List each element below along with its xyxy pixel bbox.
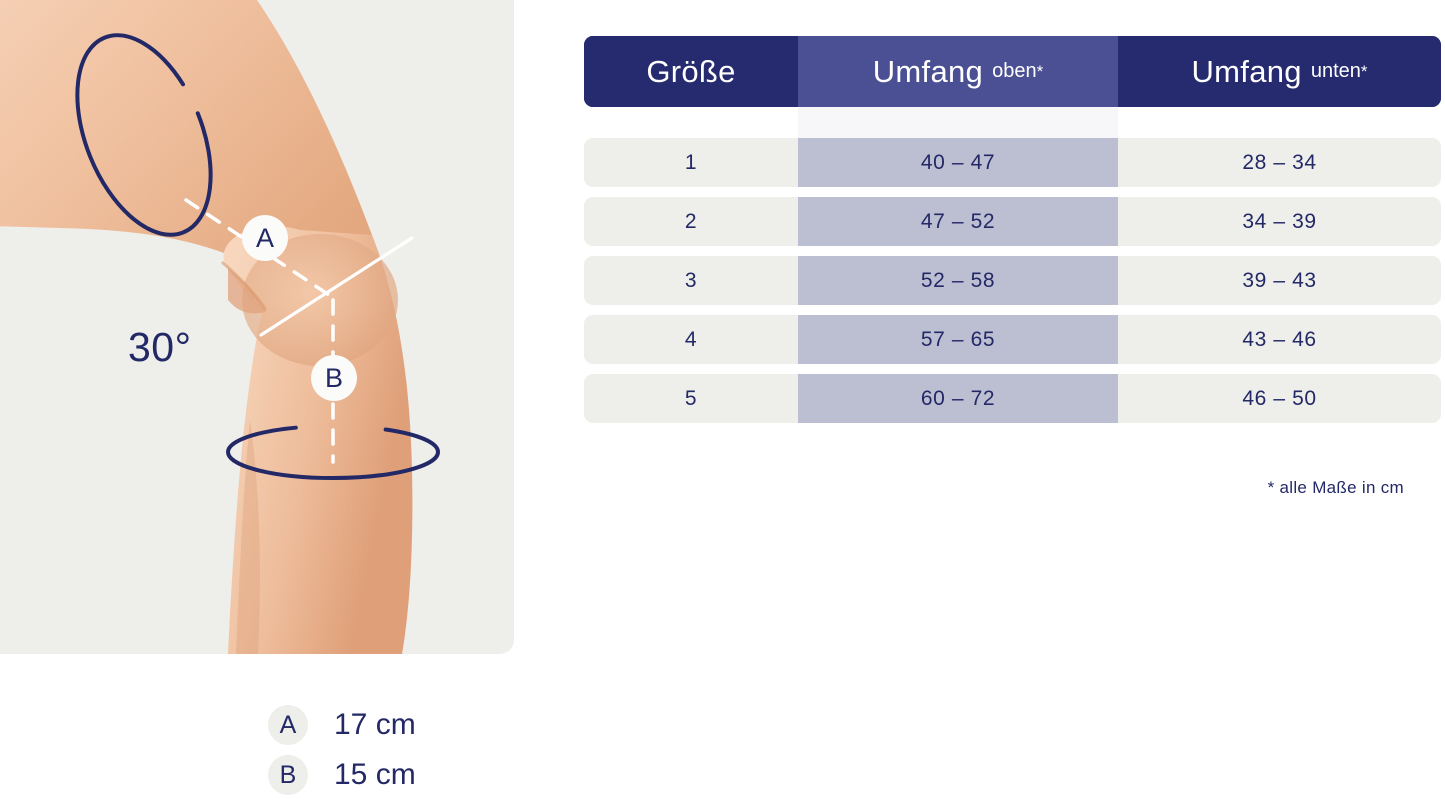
legend-item-a: A 17 cm: [268, 700, 416, 750]
cell-lower-circumference: 43 – 46: [1118, 315, 1441, 364]
legend-item-b: B 15 cm: [268, 750, 416, 800]
cell-size: 2: [584, 197, 798, 246]
size-chart-page: 30° A B A 17 cm B 15 cm Größe Umfang obe…: [0, 0, 1445, 812]
legend-marker-b: B: [268, 755, 308, 795]
header-cell-lower: Umfang unten *: [1118, 36, 1441, 107]
header-upper-label: Umfang: [873, 54, 983, 90]
table-row: 560 – 7246 – 50: [584, 374, 1441, 423]
marker-b: B: [311, 355, 357, 401]
table-row: 352 – 5839 – 43: [584, 256, 1441, 305]
table-header-row: Größe Umfang oben * Umfang unten *: [584, 36, 1441, 107]
header-cell-size: Größe: [584, 36, 798, 107]
header-size-label: Größe: [646, 54, 735, 90]
header-lower-sublabel: unten: [1311, 60, 1361, 83]
knee-illustration-panel: 30° A B: [0, 0, 514, 654]
cell-size: 4: [584, 315, 798, 364]
cell-upper-circumference: 47 – 52: [798, 197, 1118, 246]
header-cell-upper: Umfang oben *: [798, 36, 1118, 107]
cell-lower-circumference: 34 – 39: [1118, 197, 1441, 246]
angle-label: 30°: [128, 327, 192, 368]
cell-lower-circumference: 28 – 34: [1118, 138, 1441, 187]
cell-size: 5: [584, 374, 798, 423]
knee-illustration-image: [0, 0, 514, 654]
table-row: 140 – 4728 – 34: [584, 138, 1441, 187]
size-table: Größe Umfang oben * Umfang unten * 140 –…: [584, 36, 1441, 433]
legend-value-a: 17 cm: [334, 708, 416, 742]
cell-upper-circumference: 40 – 47: [798, 138, 1118, 187]
cell-lower-circumference: 46 – 50: [1118, 374, 1441, 423]
header-upper-sublabel: oben: [992, 60, 1037, 83]
cell-upper-circumference: 57 – 65: [798, 315, 1118, 364]
cell-lower-circumference: 39 – 43: [1118, 256, 1441, 305]
measurement-legend: A 17 cm B 15 cm: [268, 700, 416, 800]
header-lower-label: Umfang: [1191, 54, 1301, 90]
cell-upper-circumference: 52 – 58: [798, 256, 1118, 305]
upper-column-tint-strip: [798, 107, 1118, 138]
table-row: 247 – 5234 – 39: [584, 197, 1441, 246]
cell-upper-circumference: 60 – 72: [798, 374, 1118, 423]
cell-size: 1: [584, 138, 798, 187]
table-footnote: * alle Maße in cm: [1268, 478, 1404, 498]
cell-size: 3: [584, 256, 798, 305]
legend-value-b: 15 cm: [334, 758, 416, 792]
table-row: 457 – 6543 – 46: [584, 315, 1441, 364]
legend-marker-a: A: [268, 705, 308, 745]
marker-a: A: [242, 215, 288, 261]
table-body: 140 – 4728 – 34247 – 5234 – 39352 – 5839…: [584, 138, 1441, 423]
